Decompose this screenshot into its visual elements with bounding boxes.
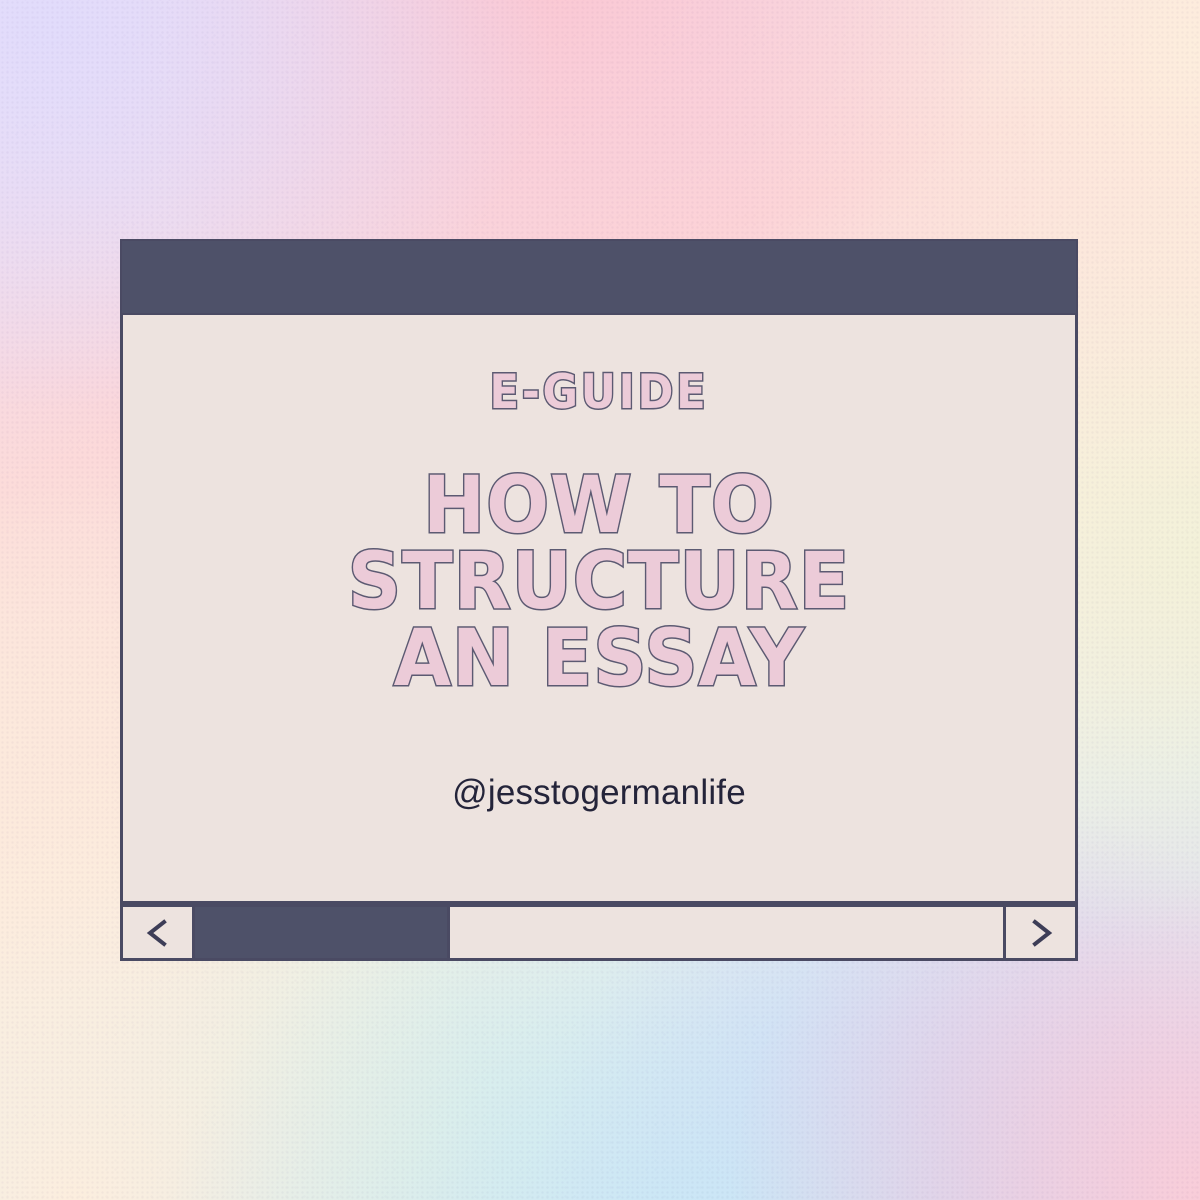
- eyebrow-label: E-GUIDE: [490, 369, 709, 416]
- window-titlebar[interactable]: [120, 239, 1078, 315]
- author-handle: @jesstogermanlife: [452, 773, 746, 813]
- next-slide-button[interactable]: [1003, 907, 1075, 958]
- page-title-line-2: AN ESSAY: [181, 621, 1017, 697]
- window-content-area: E-GUIDE HOW TO STRUCTURE AN ESSAY @jesst…: [120, 315, 1078, 904]
- scrollbar-track[interactable]: [195, 907, 1003, 958]
- page-title-line-1: HOW TO STRUCTURE: [181, 468, 1017, 621]
- previous-slide-button[interactable]: [123, 907, 195, 958]
- chevron-left-icon: [141, 916, 175, 950]
- retro-window: E-GUIDE HOW TO STRUCTURE AN ESSAY @jesst…: [120, 239, 1078, 961]
- bottom-navigation-bar: [120, 904, 1078, 961]
- chevron-right-icon: [1024, 916, 1058, 950]
- page-title: HOW TO STRUCTURE AN ESSAY: [181, 468, 1017, 697]
- scrollbar-thumb[interactable]: [195, 907, 450, 958]
